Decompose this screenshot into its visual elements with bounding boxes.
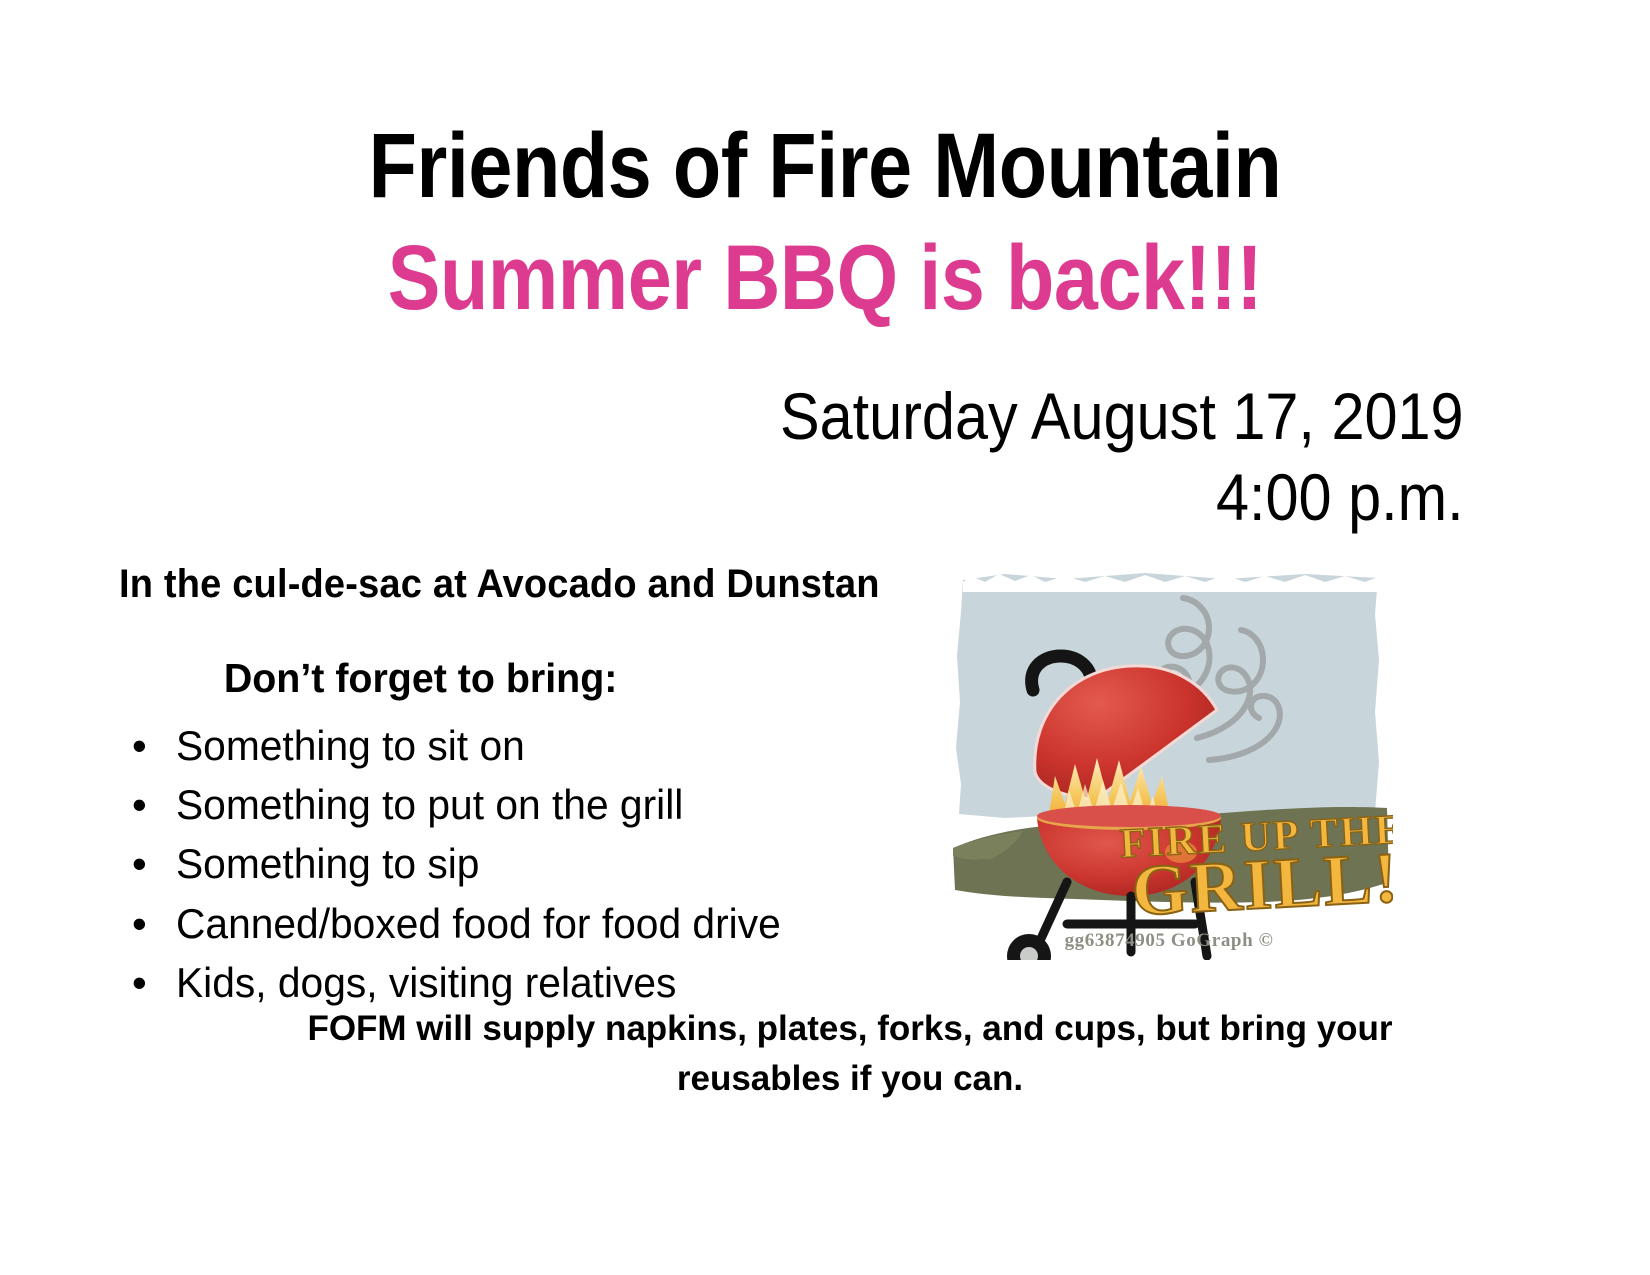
footer-note-line-1: FOFM will supply napkins, plates, forks,…	[205, 1004, 1495, 1054]
bring-list-heading: Don’t forget to bring:	[124, 655, 882, 702]
bullet-icon: •	[132, 716, 147, 775]
list-item: • Canned/boxed food for food drive	[124, 894, 914, 953]
clipart-caption: FIRE UP THE GRILL!	[1119, 807, 1393, 931]
footer-note-line-2: reusables if you can.	[205, 1054, 1495, 1104]
event-location: In the cul-de-sac at Avocado and Dunstan	[119, 562, 880, 607]
list-item-label: Something to put on the grill	[176, 775, 683, 834]
bullet-icon: •	[132, 775, 147, 834]
list-item: • Something to sip	[124, 834, 914, 893]
footer-note: FOFM will supply napkins, plates, forks,…	[205, 1004, 1495, 1103]
page-subtitle: Summer BBQ is back!!!	[116, 230, 1535, 328]
bullet-icon: •	[132, 953, 147, 1012]
headline-block: Friends of Fire Mountain Summer BBQ is b…	[0, 118, 1650, 327]
event-date: Saturday August 17, 2019	[780, 378, 1464, 455]
event-time: 4:00 p.m.	[780, 459, 1464, 536]
list-item-label: Something to sit on	[176, 716, 525, 775]
bring-list-block: Don’t forget to bring: • Something to si…	[124, 655, 914, 1012]
bullet-icon: •	[132, 894, 147, 953]
list-item: • Something to sit on	[124, 716, 914, 775]
bring-list: • Something to sit on • Something to put…	[124, 716, 914, 1012]
bullet-icon: •	[132, 834, 147, 893]
flyer-canvas: Friends of Fire Mountain Summer BBQ is b…	[0, 0, 1650, 1275]
list-item-label: Canned/boxed food for food drive	[176, 894, 781, 953]
caption-bottom-text: GRILL!	[1130, 837, 1393, 931]
grill-clipart: FIRE UP THE GRILL!	[945, 552, 1393, 960]
page-title: Friends of Fire Mountain	[116, 118, 1535, 216]
grill-illustration-svg: FIRE UP THE GRILL!	[945, 552, 1393, 960]
list-item: • Something to put on the grill	[124, 775, 914, 834]
clipart-credit: gg63874905 GoGraph ©	[945, 930, 1393, 952]
event-datetime-block: Saturday August 17, 2019 4:00 p.m.	[704, 378, 1464, 535]
list-item-label: Something to sip	[176, 834, 479, 893]
